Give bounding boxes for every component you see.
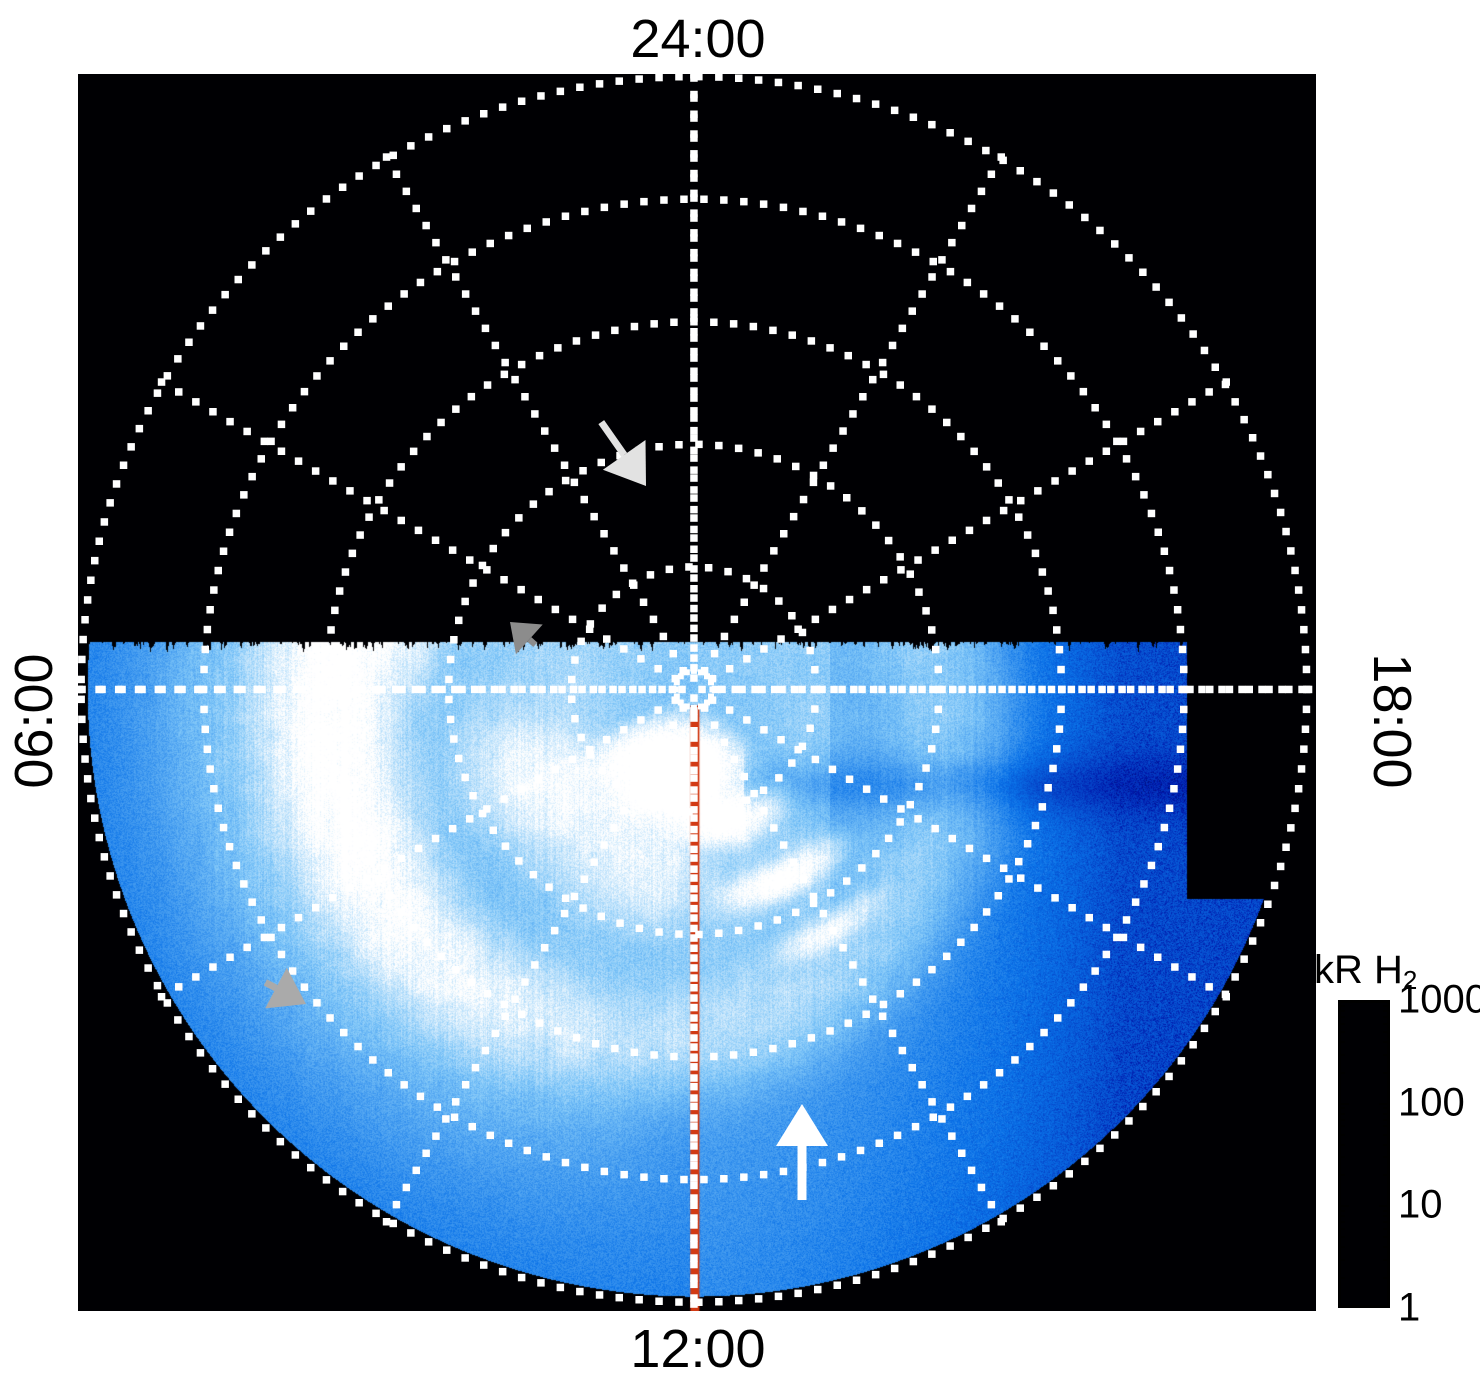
axis-label-right: 18:00 xyxy=(1361,631,1423,811)
colorbar-tick-label: 10 xyxy=(1398,1183,1443,1228)
white-arrow-upper-icon xyxy=(601,422,646,486)
colorbar-minor-tick xyxy=(1338,1054,1345,1056)
colorbar-minor-tick xyxy=(1383,1041,1390,1043)
colorbar-minor-tick xyxy=(1338,1107,1345,1109)
colorbar-minor-tick xyxy=(1383,1144,1390,1146)
polar-projection-plot xyxy=(78,74,1316,1311)
colorbar-minor-tick xyxy=(1383,1072,1390,1074)
colorbar-major-tick xyxy=(1379,1205,1390,1207)
colorbar-minor-tick xyxy=(1338,1023,1345,1025)
colorbar-minor-tick xyxy=(1383,1010,1390,1012)
colorbar-minor-tick xyxy=(1338,1125,1345,1127)
colorbar-major-tick xyxy=(1379,1306,1390,1308)
colorbar-minor-tick xyxy=(1383,1156,1390,1158)
colorbar-minor-tick xyxy=(1338,1236,1345,1238)
colorbar-minor-tick xyxy=(1338,1215,1345,1217)
colorbar-minor-tick xyxy=(1383,1134,1390,1136)
colorbar-minor-tick xyxy=(1383,1236,1390,1238)
colorbar-major-tick xyxy=(1338,1205,1349,1207)
colorbar-minor-tick xyxy=(1338,1156,1345,1158)
colorbar-minor-tick xyxy=(1338,1031,1345,1033)
colorbar-title-main: kR H xyxy=(1314,948,1403,992)
colorbar-minor-tick xyxy=(1383,1246,1390,1248)
colorbar-minor-tick xyxy=(1383,1125,1390,1127)
colorbar-minor-tick xyxy=(1383,1228,1390,1230)
colorbar-minor-tick xyxy=(1338,1005,1345,1007)
colorbar-minor-tick xyxy=(1338,1228,1345,1230)
colorbar-minor-tick xyxy=(1338,1259,1345,1261)
colorbar-minor-tick xyxy=(1338,1210,1345,1212)
colorbar-major-tick xyxy=(1338,1103,1349,1105)
colorbar-minor-tick xyxy=(1383,1107,1390,1109)
colorbar-minor-tick xyxy=(1338,1246,1345,1248)
axis-label-bottom: 12:00 xyxy=(0,1318,1396,1380)
annotation-arrows xyxy=(78,74,1316,1311)
colorbar-minor-tick xyxy=(1383,1054,1390,1056)
gray-arrow-upper-left-icon xyxy=(510,622,543,654)
colorbar-tick-label: 100 xyxy=(1398,1080,1465,1125)
colorbar-minor-tick xyxy=(1383,1221,1390,1223)
colorbar-major-tick xyxy=(1379,1103,1390,1105)
figure-root: 24:00 12:00 06:00 18:00 kR H2 1000100101 xyxy=(0,0,1480,1384)
colorbar-minor-tick xyxy=(1383,1174,1390,1176)
colorbar-minor-tick xyxy=(1338,1134,1345,1136)
colorbar-major-tick xyxy=(1338,1306,1349,1308)
colorbar-major-tick xyxy=(1338,1000,1349,1002)
colorbar-minor-tick xyxy=(1383,1277,1390,1279)
colorbar-minor-tick xyxy=(1338,1041,1345,1043)
colorbar-minor-tick xyxy=(1338,1016,1345,1018)
colorbar-minor-tick xyxy=(1383,1016,1390,1018)
colorbar-minor-tick xyxy=(1383,1259,1390,1261)
colorbar-minor-tick xyxy=(1383,1023,1390,1025)
axis-label-left: 06:00 xyxy=(3,631,65,811)
colorbar-minor-tick xyxy=(1338,1144,1345,1146)
colorbar-minor-tick xyxy=(1383,1005,1390,1007)
gray-arrow-left-icon xyxy=(265,968,306,1009)
colorbar-ticks xyxy=(1338,1000,1390,1308)
colorbar-minor-tick xyxy=(1383,1031,1390,1033)
colorbar-minor-tick xyxy=(1338,1221,1345,1223)
colorbar-minor-tick xyxy=(1338,1113,1345,1115)
white-arrow-lower-icon xyxy=(776,1104,828,1200)
colorbar-minor-tick xyxy=(1338,1174,1345,1176)
colorbar-minor-tick xyxy=(1338,1119,1345,1121)
colorbar-tick-label: 1000 xyxy=(1398,978,1480,1023)
colorbar-minor-tick xyxy=(1383,1119,1390,1121)
colorbar-minor-tick xyxy=(1383,1210,1390,1212)
colorbar-minor-tick xyxy=(1383,1215,1390,1217)
colorbar-minor-tick xyxy=(1338,1277,1345,1279)
colorbar-minor-tick xyxy=(1338,1010,1345,1012)
axis-label-top: 24:00 xyxy=(0,8,1396,70)
colorbar-minor-tick xyxy=(1338,1072,1345,1074)
colorbar-major-tick xyxy=(1379,1000,1390,1002)
colorbar-tick-label: 1 xyxy=(1398,1286,1420,1331)
colorbar-minor-tick xyxy=(1383,1113,1390,1115)
